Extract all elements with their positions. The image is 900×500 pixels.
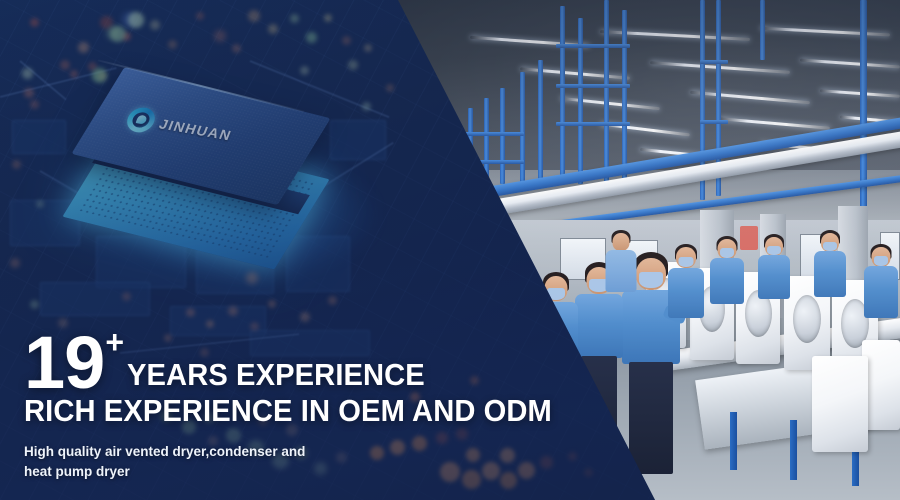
headline-block: 19 + YEARS EXPERIENCE RICH EXPERIENCE IN… [24, 332, 644, 482]
rack-post [578, 18, 583, 184]
subcopy-line-2: heat pump dryer [24, 462, 644, 482]
subcopy-block: High quality air vented dryer,condenser … [24, 442, 644, 483]
rack-post [500, 88, 505, 184]
plus-symbol: + [105, 326, 124, 358]
factory-worker [756, 234, 792, 344]
rack-post [520, 72, 525, 182]
rack-post [604, 0, 609, 190]
years-experience-label: YEARS EXPERIENCE [127, 359, 425, 390]
rack-post [560, 6, 565, 182]
rack-post [538, 60, 543, 182]
factory-worker [604, 230, 638, 314]
subcopy-line-1: High quality air vented dryer,condenser … [24, 442, 644, 462]
headline-line-1: 19 + YEARS EXPERIENCE [24, 332, 644, 394]
factory-worker [862, 244, 900, 364]
dryer-unit [812, 356, 868, 452]
years-number: 19 [24, 332, 104, 394]
headline-line-2: RICH EXPERIENCE IN OEM AND ODM [24, 394, 607, 429]
brand-logo-text: JINHUAN [157, 116, 234, 144]
factory-worker [666, 244, 706, 374]
factory-worker [812, 230, 848, 340]
processor-chip: JINHUAN [72, 72, 337, 247]
promo-banner: JINHUAN [0, 0, 900, 500]
factory-worker [708, 236, 746, 356]
rack-post [760, 0, 765, 60]
